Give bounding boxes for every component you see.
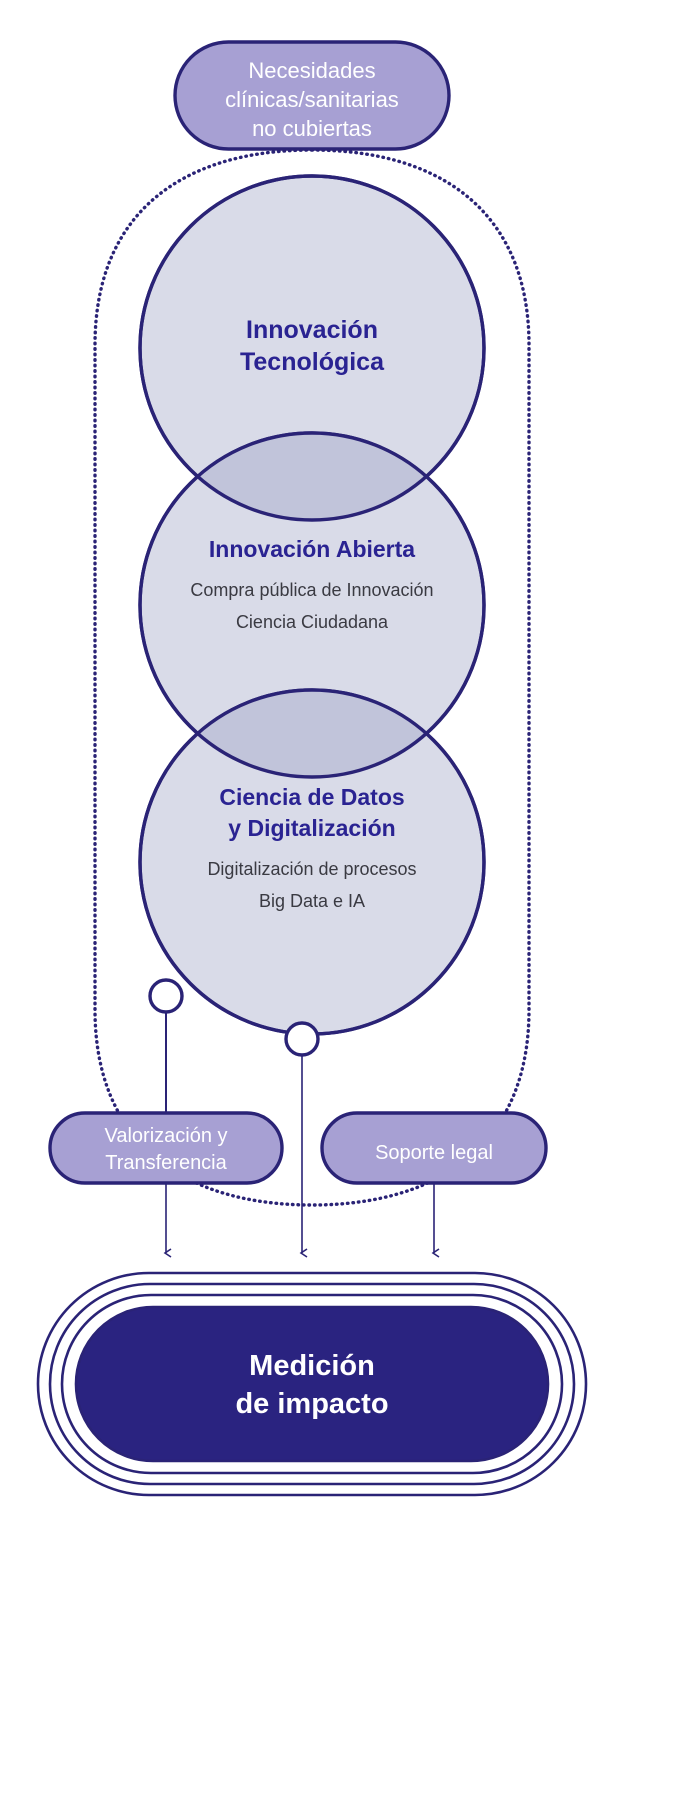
circle-3-title-line-2: y Digitalización <box>228 815 395 841</box>
impact-core-shape <box>76 1307 548 1461</box>
necesidades-pill-line-3: no cubiertas <box>252 116 372 141</box>
circle-2-title-line-1: Innovación Abierta <box>209 536 415 562</box>
circle-2-subtitle-line-2: Ciencia Ciudadana <box>236 612 389 632</box>
diagram-canvas: Innovación Tecnológica Innovación Abiert… <box>0 0 700 1800</box>
medicion-de-impacto[interactable]: Medición de impacto <box>38 1273 586 1495</box>
valorizacion-transferencia-pill[interactable]: Valorización y Transferencia <box>50 1113 282 1183</box>
valorizacion-pill-line-2: Transferencia <box>105 1152 227 1174</box>
circle-3-subtitle-line-1: Digitalización de procesos <box>207 859 416 879</box>
circle-3-title-line-1: Ciencia de Datos <box>219 784 404 810</box>
valorizacion-pill-line-1: Valorización y <box>104 1125 227 1147</box>
necesidades-pill-line-1: Necesidades <box>248 58 375 83</box>
circle-1-title-line-1: Innovación <box>246 316 378 344</box>
circle-1-title-line-2: Tecnológica <box>240 348 385 376</box>
necesidades-pill[interactable]: Necesidades clínicas/sanitarias no cubie… <box>175 42 449 149</box>
node-center-circle-icon <box>286 1023 318 1055</box>
impact-label-line-2: de impacto <box>235 1388 388 1420</box>
innovation-model-diagram: Innovación Tecnológica Innovación Abiert… <box>0 0 700 1800</box>
necesidades-pill-line-2: clínicas/sanitarias <box>225 87 399 112</box>
node-left-circle-icon <box>150 980 182 1012</box>
circle-2-subtitle-line-1: Compra pública de Innovación <box>190 580 433 600</box>
impact-label-line-1: Medición <box>249 1350 375 1382</box>
node-center[interactable] <box>286 1023 318 1055</box>
node-left[interactable] <box>150 980 182 1012</box>
circle-3-subtitle-line-2: Big Data e IA <box>259 891 365 911</box>
soporte-legal-pill-line-1: Soporte legal <box>375 1142 493 1164</box>
soporte-legal-pill[interactable]: Soporte legal <box>322 1113 546 1183</box>
